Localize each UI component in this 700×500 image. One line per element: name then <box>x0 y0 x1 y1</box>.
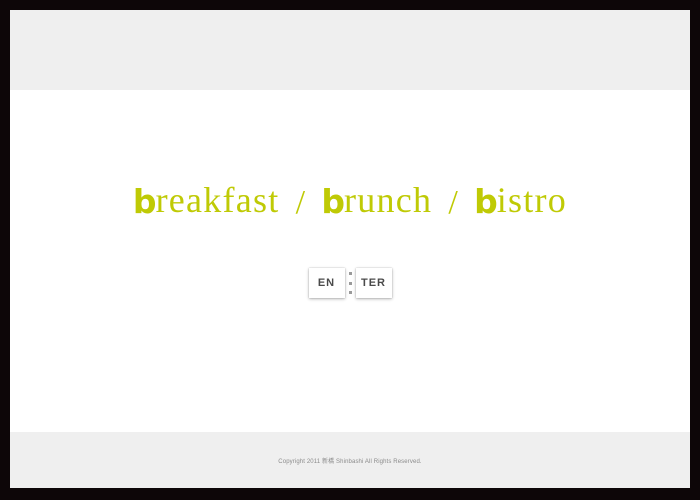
brand-word-brunch-tail: runch <box>344 180 432 220</box>
brand-word-breakfast: breakfast <box>133 182 280 218</box>
page-frame: breakfast/brunch/bistro EN TER Copyright… <box>0 0 700 500</box>
brand-word-breakfast-tail: reakfast <box>156 180 280 220</box>
enter-button-left-tile[interactable]: EN <box>309 268 345 298</box>
main-stage: breakfast/brunch/bistro EN TER <box>10 90 690 432</box>
copyright-text: Copyright 2011 新橋 Shinbashi All Rights R… <box>278 456 421 465</box>
brand-separator-slash-1: / <box>280 186 322 220</box>
brand-initial-b-brunch: b <box>321 182 344 221</box>
header-band <box>10 10 690 90</box>
brand-word-brunch: brunch <box>321 182 432 218</box>
brand-initial-b-breakfast: b <box>133 182 156 221</box>
brand-word-bistro-tail: istro <box>497 180 567 220</box>
footer-band: Copyright 2011 新橋 Shinbashi All Rights R… <box>10 432 690 488</box>
enter-button[interactable]: EN TER <box>10 268 690 298</box>
brand-headline: breakfast/brunch/bistro <box>10 182 690 219</box>
brand-separator-slash-2: / <box>432 186 474 220</box>
vertical-dotted-divider-icon <box>349 272 352 294</box>
site-viewport: breakfast/brunch/bistro EN TER Copyright… <box>10 10 690 488</box>
divider-dot <box>349 291 352 294</box>
divider-dot <box>349 272 352 275</box>
divider-dot <box>349 282 352 285</box>
brand-word-bistro: bistro <box>474 182 567 218</box>
brand-initial-b-bistro: b <box>474 182 497 221</box>
enter-button-right-tile[interactable]: TER <box>356 268 392 298</box>
